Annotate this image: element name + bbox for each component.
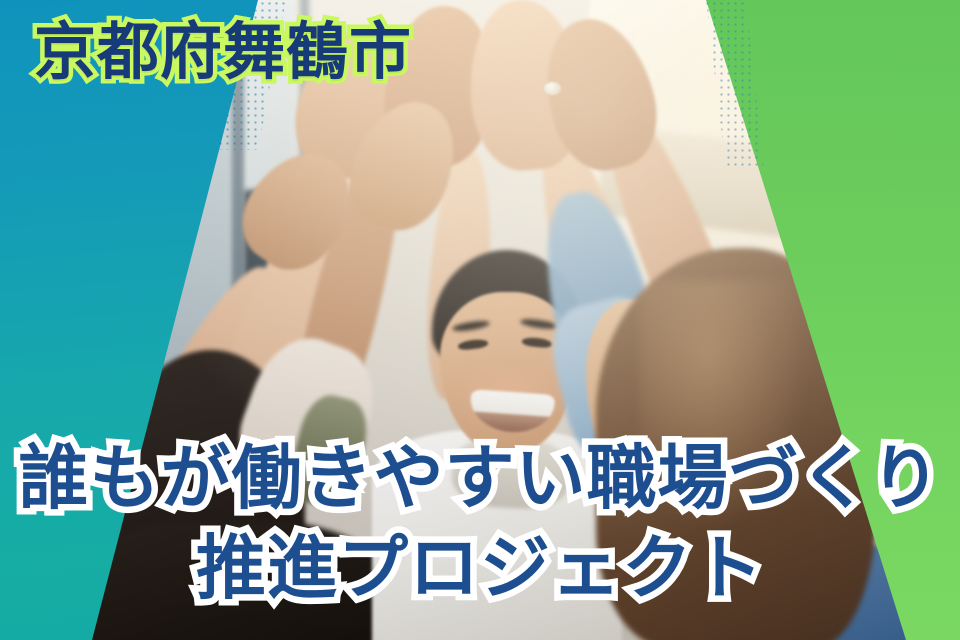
- promo-banner: 京都府舞鶴市 誰もが働きやすい職場づくり 推進プロジェクト: [0, 0, 960, 640]
- finger-ring: [544, 82, 561, 95]
- headline-line-1: 誰もが働きやすい職場づくり: [0, 442, 960, 514]
- headline: 誰もが働きやすい職場づくり 推進プロジェクト: [0, 442, 960, 604]
- city-label: 京都府舞鶴市: [34, 18, 412, 89]
- headline-line-2: 推進プロジェクト: [0, 532, 960, 604]
